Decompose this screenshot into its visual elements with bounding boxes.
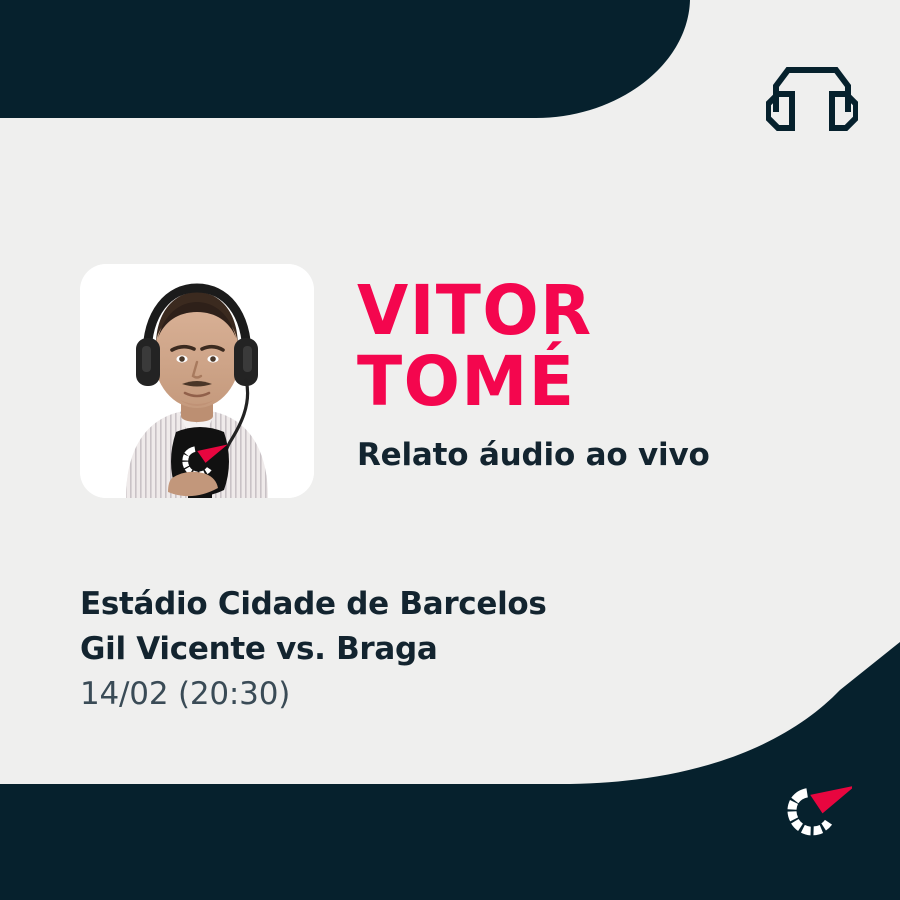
match-info-block: Estádio Cidade de Barcelos Gil Vicente v… (80, 582, 780, 717)
presenter-portrait (80, 264, 314, 498)
presenter-last-name: TOMÉ (357, 349, 837, 416)
headline-block: VITOR TOMÉ Relato áudio ao vivo (357, 278, 857, 472)
audio-broadcast-poster: VITOR TOMÉ Relato áudio ao vivo Estádio … (0, 0, 900, 900)
presenter-role: Relato áudio ao vivo (357, 438, 857, 472)
match-venue: Estádio Cidade de Barcelos (80, 582, 780, 627)
brand-logo (776, 776, 852, 846)
headphones-icon (766, 56, 858, 134)
match-datetime: 14/02 (20:30) (80, 672, 780, 717)
top-navy-band (0, 0, 690, 118)
presenter-first-name: VITOR (357, 278, 837, 345)
match-teams: Gil Vicente vs. Braga (80, 627, 780, 672)
